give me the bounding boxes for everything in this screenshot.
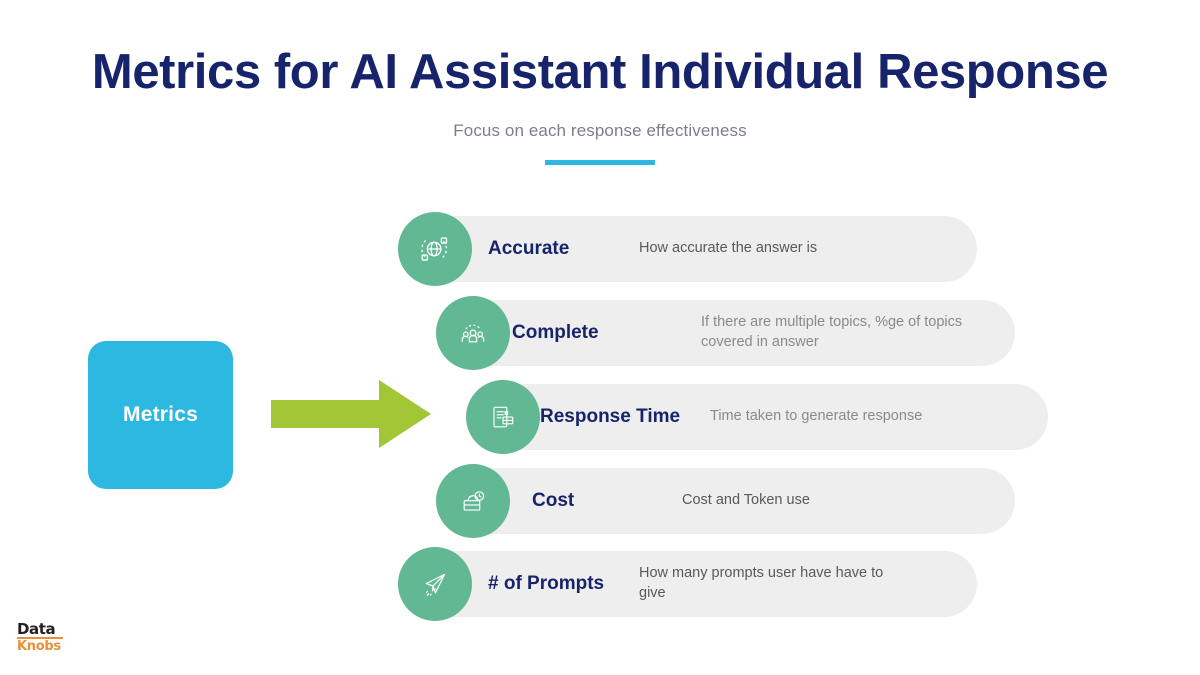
metric-description: Time taken to generate response xyxy=(710,384,1030,450)
metric-row-response-time[interactable]: Response Time Time taken to generate res… xyxy=(466,384,1048,450)
metrics-source-box: Metrics xyxy=(88,341,233,489)
metric-row-accurate[interactable]: Accurate How accurate the answer is xyxy=(398,216,977,282)
briefcase-clock-icon xyxy=(436,464,510,538)
globe-network-icon xyxy=(398,212,472,286)
metric-description: Cost and Token use xyxy=(682,468,962,534)
page-subtitle: Focus on each response effectiveness xyxy=(0,121,1200,141)
metric-row-complete[interactable]: Complete If there are multiple topics, %… xyxy=(436,300,1015,366)
metric-description: How many prompts user have have to give xyxy=(639,551,909,617)
dataknobs-logo: Data Knobs xyxy=(17,622,69,652)
metric-label: Accurate xyxy=(488,216,569,282)
logo-line-data: Data xyxy=(17,622,69,636)
title-accent-bar xyxy=(545,160,655,165)
metric-label: Response Time xyxy=(540,384,680,450)
metric-row-num-prompts[interactable]: # of Prompts How many prompts user have … xyxy=(398,551,977,617)
metric-description: If there are multiple topics, %ge of top… xyxy=(701,300,971,366)
right-arrow-icon xyxy=(271,378,431,450)
metric-description: How accurate the answer is xyxy=(639,216,939,282)
paper-plane-icon xyxy=(398,547,472,621)
metrics-source-label: Metrics xyxy=(123,403,198,427)
metric-label: # of Prompts xyxy=(488,551,604,617)
people-group-icon xyxy=(436,296,510,370)
logo-line-knobs: Knobs xyxy=(17,640,69,653)
metric-label: Cost xyxy=(532,468,574,534)
metric-label: Complete xyxy=(512,300,599,366)
slide-canvas: Metrics for AI Assistant Individual Resp… xyxy=(0,0,1200,675)
page-title: Metrics for AI Assistant Individual Resp… xyxy=(0,46,1200,100)
metric-row-cost[interactable]: Cost Cost and Token use xyxy=(436,468,1015,534)
document-report-icon xyxy=(466,380,540,454)
